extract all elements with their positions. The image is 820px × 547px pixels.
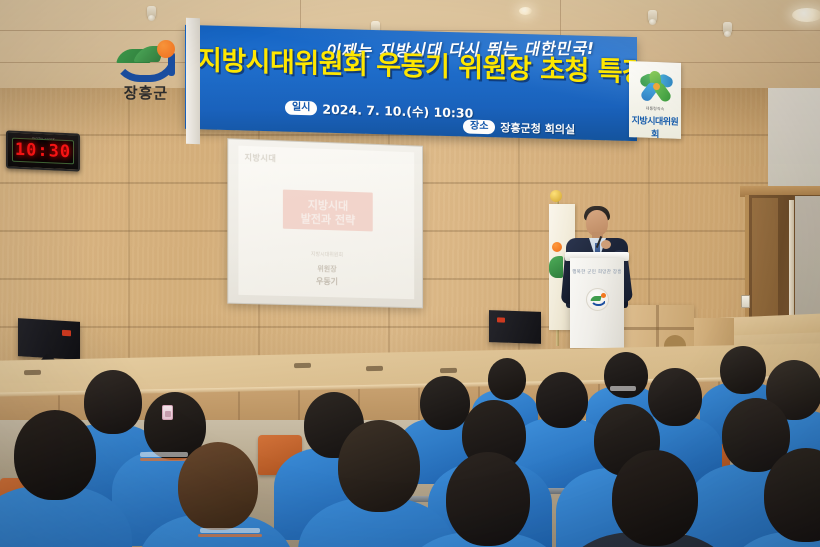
floor-outlet: [366, 366, 383, 371]
committee-banner-title: 지방시대위원회: [629, 113, 681, 139]
place-label: 장소: [463, 119, 495, 134]
county-logo-mark: [110, 38, 180, 82]
digital-clock: DIGITAL CLOCK 10:30: [6, 130, 80, 171]
clock-digits: 10:30: [15, 140, 71, 162]
committee-banner-subtitle: 대통령직속: [629, 105, 681, 113]
slide-title-band: 지방시대 발전과 전략: [283, 190, 373, 232]
date-value: 2024. 7. 10.(수) 10:30: [322, 99, 473, 122]
conference-hall-photo: 장흥군 이제는 지방시대 다시 뛰는 대한민국! 지방시대위원회 우동기 위원장…: [0, 0, 820, 547]
slide-subtitle: 지방시대위원회: [238, 248, 414, 260]
banner-venue: 장소 장흥군청 회의실: [463, 118, 575, 137]
speaker-left-icon: [18, 318, 80, 360]
slide-presenter: 우동기: [238, 274, 414, 290]
ceiling-light-icon: [519, 7, 532, 15]
date-label: 일시: [285, 100, 317, 115]
county-logo-label: 장흥군: [104, 82, 188, 103]
polo-collar-stripe: [198, 534, 262, 537]
flag-finial-icon: [550, 190, 562, 202]
upper-wall: [768, 88, 820, 188]
floor-outlet: [24, 370, 41, 375]
light-switch[interactable]: [741, 295, 750, 308]
banner-datetime: 일시 2024. 7. 10.(수) 10:30: [285, 98, 473, 122]
screen-housing: [186, 18, 200, 144]
sun-icon: [157, 40, 175, 58]
event-banner: 이제는 지방시대 다시 뛰는 대한민국! 지방시대위원회 우동기 위원장 초청 …: [185, 25, 637, 141]
slide-title-line2: 발전과 전략: [283, 210, 373, 229]
sprinkler-icon: [648, 10, 657, 23]
committee-logo-icon: [642, 70, 670, 105]
polo-collar: [200, 528, 260, 533]
speaker-right-icon: [489, 310, 541, 344]
sprinkler-icon: [723, 22, 732, 35]
flag-emblem-sun-icon: [552, 242, 562, 252]
polo-collar: [140, 452, 188, 457]
flag-emblem-hill-icon: [549, 256, 563, 278]
podium: 행복한 군민 희망찬 장흥: [570, 258, 624, 348]
polo-collar: [610, 386, 636, 391]
floor-outlet: [294, 363, 311, 368]
ceiling-light-icon: [792, 8, 820, 22]
projection-screen: 지방시대 지방시대 발전과 전략 지방시대위원회 위원장 우동기: [227, 138, 423, 308]
hair-clip: [162, 405, 173, 420]
podium-slogan: 행복한 군민 희망찬 장흥: [570, 269, 624, 275]
committee-banner: 대통령직속 지방시대위원회: [629, 61, 681, 139]
floor-outlet: [440, 368, 457, 373]
presenter-hand: [601, 240, 611, 249]
podium-emblem-icon: [586, 288, 609, 311]
place-value: 장흥군청 회의실: [500, 119, 575, 137]
presentation-slide: 지방시대 지방시대 발전과 전략 지방시대위원회 위원장 우동기: [238, 146, 414, 300]
jangheung-county-logo: 장흥군: [104, 34, 188, 110]
sprinkler-icon: [147, 6, 156, 19]
slide-logo: 지방시대: [245, 152, 277, 164]
polo-collar-stripe: [140, 458, 188, 461]
